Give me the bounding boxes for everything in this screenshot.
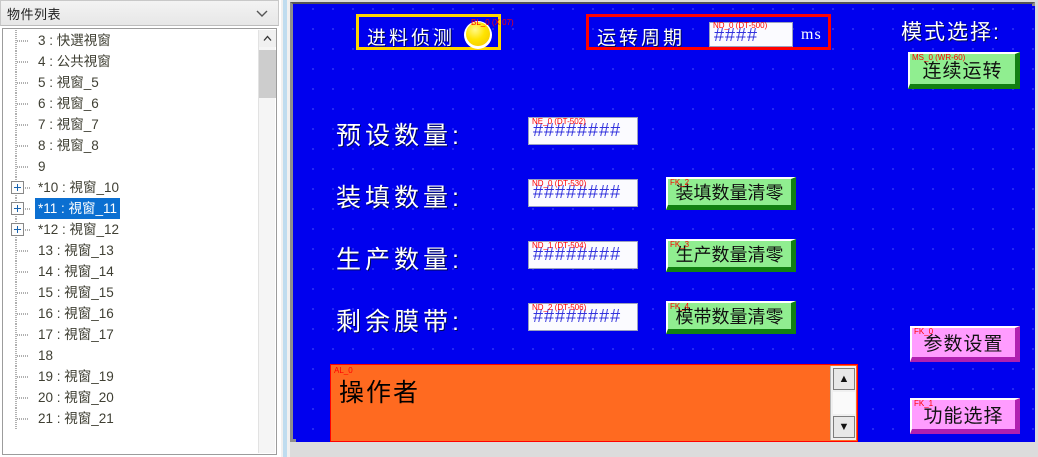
tree-item-label: 4 : 公共視窗 xyxy=(35,51,114,72)
tree-item[interactable]: 16 : 視窗_16 xyxy=(3,303,255,324)
tree-item-label: 16 : 視窗_16 xyxy=(35,303,117,324)
tree-item-label: 14 : 視窗_14 xyxy=(35,261,117,282)
row-reset-button-label: 模带数量清零 xyxy=(676,303,784,329)
object-tree-container: 3 : 快選視窗4 : 公共視窗5 : 視窗_56 : 視窗_67 : 視窗_7… xyxy=(2,28,277,455)
tree-item-label: 21 : 視窗_21 xyxy=(35,408,117,429)
tree-item[interactable]: *10 : 視窗_10 xyxy=(3,177,255,198)
tree-item-label: 13 : 視窗_13 xyxy=(35,240,117,261)
tree-item-label: 6 : 視窗_6 xyxy=(35,93,102,114)
tree-elbow-line xyxy=(17,166,29,168)
row-value: ######## xyxy=(533,183,621,202)
scroll-down-arrow-icon[interactable]: ▼ xyxy=(833,416,855,438)
row-reset-button-label: 装填数量清零 xyxy=(676,179,784,205)
tree-item-label: 5 : 視窗_5 xyxy=(35,72,102,93)
cycle-time-label: 运转周期 xyxy=(597,23,685,50)
hmi-screen-frame: 进料侦测 BL_0 (X 07) 运转周期 #### ND_0 (DT-500)… xyxy=(290,2,1035,442)
tree-elbow-line xyxy=(25,229,31,231)
tree-item[interactable]: 19 : 視窗_19 xyxy=(3,366,255,387)
cycle-time-value: #### xyxy=(714,26,758,45)
parameter-settings-button-label: 参数设置 xyxy=(923,329,1003,356)
row-value: ######## xyxy=(533,245,621,264)
operator-alarm-panel[interactable]: AL_0 操作者 ▲ ▼ xyxy=(330,364,858,442)
tree-item[interactable]: 3 : 快選視窗 xyxy=(3,30,255,51)
row-reset-button[interactable]: 生产数量清零 xyxy=(666,239,796,272)
tree-item[interactable]: 21 : 視窗_21 xyxy=(3,408,255,429)
feed-detect-lamp[interactable] xyxy=(464,21,492,49)
tree-item-label: 19 : 視窗_19 xyxy=(35,366,117,387)
tree-scrollbar[interactable] xyxy=(258,30,275,453)
cycle-time-value-field[interactable]: #### xyxy=(709,22,793,47)
row-label: 生产数量: xyxy=(336,240,463,276)
panel-title: 物件列表 xyxy=(7,4,61,23)
feed-detect-label: 进料侦测 xyxy=(367,23,455,50)
row-label: 预设数量: xyxy=(336,116,463,152)
row-value-field[interactable]: ######## xyxy=(528,241,638,269)
lamp-bulb-icon xyxy=(466,22,490,46)
tree-item[interactable]: 20 : 視窗_20 xyxy=(3,387,255,408)
tree-item[interactable]: 8 : 視窗_8 xyxy=(3,135,255,156)
tree-item-label: 20 : 視窗_20 xyxy=(35,387,117,408)
chevron-down-icon[interactable] xyxy=(254,5,270,21)
scrollbar-thumb[interactable] xyxy=(259,50,276,98)
mode-select-button[interactable]: 连续运转 xyxy=(908,52,1020,89)
tree-elbow-line xyxy=(17,292,29,294)
row-reset-button[interactable]: 装填数量清零 xyxy=(666,177,796,210)
expand-plus-icon[interactable] xyxy=(11,202,24,215)
function-select-button-label: 功能选择 xyxy=(923,401,1003,428)
tree-item-label: 17 : 視窗_17 xyxy=(35,324,117,345)
tree-item-label: *12 : 視窗_12 xyxy=(35,219,122,240)
cycle-time-group[interactable]: 运转周期 #### ND_0 (DT-500) ms xyxy=(586,14,831,50)
scroll-up-arrow-icon[interactable] xyxy=(259,30,276,47)
tree-elbow-line xyxy=(17,145,29,147)
tree-elbow-line xyxy=(17,40,29,42)
tree-item-label: *11 : 視窗_11 xyxy=(35,198,120,219)
row-reset-button[interactable]: 模带数量清零 xyxy=(666,301,796,334)
mode-select-label: 模式选择: xyxy=(901,16,1001,46)
expand-plus-icon[interactable] xyxy=(11,181,24,194)
tree-item[interactable]: 6 : 視窗_6 xyxy=(3,93,255,114)
operator-alarm-text: 操作者 xyxy=(339,373,420,409)
tree-elbow-line xyxy=(17,418,29,420)
object-list-panel: 物件列表 3 : 快選視窗4 : 公共視窗5 : 視窗_56 : 視窗_67 :… xyxy=(0,0,281,457)
tree-item[interactable]: 14 : 視窗_14 xyxy=(3,261,255,282)
tree-item[interactable]: 13 : 視窗_13 xyxy=(3,240,255,261)
row-value: ######## xyxy=(533,121,621,140)
cycle-time-unit: ms xyxy=(801,26,822,44)
tree-elbow-line xyxy=(17,82,29,84)
parameter-settings-button[interactable]: 参数设置 xyxy=(910,326,1020,362)
operator-alarm-scrollbar[interactable]: ▲ ▼ xyxy=(830,366,856,440)
tree-elbow-line xyxy=(17,313,29,315)
row-label: 剩余膜带: xyxy=(336,302,463,338)
row-label: 装填数量: xyxy=(336,178,463,214)
tree-elbow-line xyxy=(17,250,29,252)
tree-item[interactable]: 9 xyxy=(3,156,255,177)
tree-item-label: *10 : 視窗_10 xyxy=(35,177,122,198)
object-list-header[interactable]: 物件列表 xyxy=(0,0,279,26)
row-value-field[interactable]: ######## xyxy=(528,117,638,145)
tree-item[interactable]: 5 : 視窗_5 xyxy=(3,72,255,93)
tree-elbow-line xyxy=(17,376,29,378)
hmi-editor-area: 进料侦测 BL_0 (X 07) 运转周期 #### ND_0 (DT-500)… xyxy=(290,0,1038,457)
scrollbar-track[interactable] xyxy=(833,392,855,414)
scroll-up-arrow-icon[interactable]: ▲ xyxy=(833,368,855,390)
tree-item[interactable]: 18 xyxy=(3,345,255,366)
function-select-button[interactable]: 功能选择 xyxy=(910,398,1020,434)
row-value-field[interactable]: ######## xyxy=(528,303,638,331)
tree-item-label: 3 : 快選視窗 xyxy=(35,30,114,51)
tree-elbow-line xyxy=(17,271,29,273)
object-tree[interactable]: 3 : 快選視窗4 : 公共視窗5 : 視窗_56 : 視窗_67 : 視窗_7… xyxy=(3,30,255,455)
expand-plus-icon[interactable] xyxy=(11,223,24,236)
tree-elbow-line xyxy=(17,124,29,126)
tree-item[interactable]: *12 : 視窗_12 xyxy=(3,219,255,240)
tree-item[interactable]: *11 : 視窗_11 xyxy=(3,198,255,219)
tree-elbow-line xyxy=(17,334,29,336)
row-reset-button-label: 生产数量清零 xyxy=(676,241,784,267)
row-value-field[interactable]: ######## xyxy=(528,179,638,207)
tree-elbow-line xyxy=(17,397,29,399)
tree-item-label: 15 : 視窗_15 xyxy=(35,282,117,303)
tree-item[interactable]: 15 : 視窗_15 xyxy=(3,282,255,303)
row-value: ######## xyxy=(533,307,621,326)
tree-item-label: 9 xyxy=(35,156,49,177)
tree-item-label: 7 : 視窗_7 xyxy=(35,114,102,135)
tree-item[interactable]: 7 : 視窗_7 xyxy=(3,114,255,135)
tree-elbow-line xyxy=(17,103,29,105)
tree-elbow-line xyxy=(25,208,31,210)
tree-elbow-line xyxy=(17,355,29,357)
tree-item[interactable]: 4 : 公共視窗 xyxy=(3,51,255,72)
tree-elbow-line xyxy=(17,61,29,63)
feed-detect-group[interactable]: 进料侦测 BL_0 (X 07) xyxy=(356,14,501,50)
panel-splitter[interactable] xyxy=(281,0,290,457)
tree-item-label: 18 xyxy=(35,345,56,366)
mode-select-button-label: 连续运转 xyxy=(922,56,1002,83)
application-window: 物件列表 3 : 快選視窗4 : 公共視窗5 : 視窗_56 : 視窗_67 :… xyxy=(0,0,1038,457)
splitter-bar xyxy=(283,0,287,457)
tree-item[interactable]: 17 : 視窗_17 xyxy=(3,324,255,345)
tree-elbow-line xyxy=(25,187,31,189)
hmi-screen-canvas[interactable]: 进料侦测 BL_0 (X 07) 运转周期 #### ND_0 (DT-500)… xyxy=(296,6,1035,442)
tree-item-label: 8 : 視窗_8 xyxy=(35,135,102,156)
